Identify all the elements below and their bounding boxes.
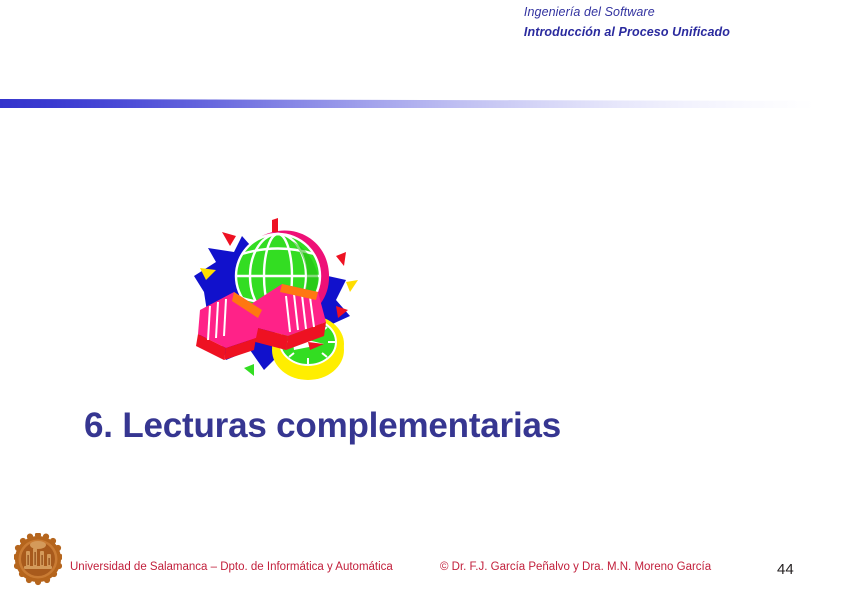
header-course-title: Ingeniería del Software bbox=[524, 4, 730, 21]
books-globe-compass-icon bbox=[186, 214, 364, 389]
header-divider bbox=[0, 99, 848, 110]
presentation-slide: Ingeniería del Software Introducción al … bbox=[0, 0, 848, 599]
footer-copyright: © Dr. F.J. García Peñalvo y Dra. M.N. Mo… bbox=[440, 561, 711, 573]
slide-header: Ingeniería del Software Introducción al … bbox=[524, 4, 730, 40]
footer-institution: Universidad de Salamanca – Dpto. de Info… bbox=[70, 561, 393, 573]
page-title: 6. Lecturas complementarias bbox=[84, 406, 561, 446]
header-topic-title: Introducción al Proceso Unificado bbox=[524, 24, 730, 41]
universidad-de-salamanca-seal-icon bbox=[14, 533, 62, 587]
gradient-rule-icon bbox=[0, 99, 848, 108]
footer-page-number: 44 bbox=[777, 561, 794, 578]
